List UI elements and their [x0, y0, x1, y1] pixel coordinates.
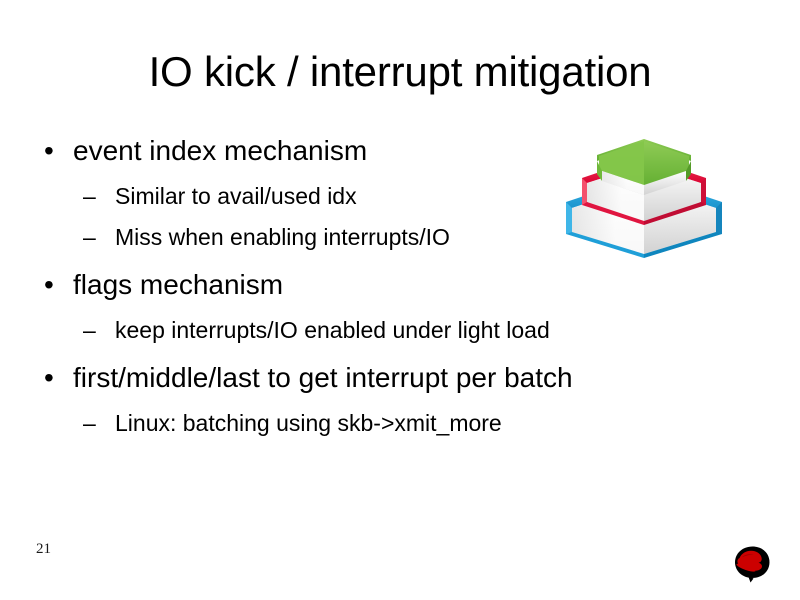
bullet-group-3: • first/middle/last to get interrupt per…	[38, 361, 718, 438]
dash-marker-icon: –	[83, 316, 96, 345]
bullet-text: flags mechanism	[73, 269, 283, 300]
bullet-marker-icon: •	[44, 361, 54, 395]
red-hat-shadowman-logo	[729, 541, 775, 587]
bullet-marker-icon: •	[44, 268, 54, 302]
bullet-item-level1: • first/middle/last to get interrupt per…	[38, 361, 718, 395]
dash-marker-icon: –	[83, 409, 96, 438]
dash-marker-icon: –	[83, 223, 96, 252]
bullet-item-level2: – Linux: batching using skb->xmit_more	[38, 409, 718, 438]
bullet-text: Similar to avail/used idx	[115, 183, 357, 209]
page-number: 21	[36, 540, 51, 558]
bullet-text: first/middle/last to get interrupt per b…	[73, 362, 573, 393]
bullet-text: Linux: batching using skb->xmit_more	[115, 410, 502, 436]
bullet-marker-icon: •	[44, 134, 54, 168]
bullet-text: event index mechanism	[73, 135, 367, 166]
bullet-item-level1: • flags mechanism	[38, 268, 718, 302]
bullet-text: keep interrupts/IO enabled under light l…	[115, 317, 550, 343]
bullet-item-level2: – keep interrupts/IO enabled under light…	[38, 316, 718, 345]
slide: IO kick / interrupt mitigation • event i…	[0, 0, 800, 600]
bullet-text: Miss when enabling interrupts/IO	[115, 224, 450, 250]
dash-marker-icon: –	[83, 182, 96, 211]
bullet-group-2: • flags mechanism – keep interrupts/IO e…	[38, 268, 718, 345]
stack-of-books-icon	[556, 136, 732, 258]
slide-title: IO kick / interrupt mitigation	[0, 46, 800, 98]
